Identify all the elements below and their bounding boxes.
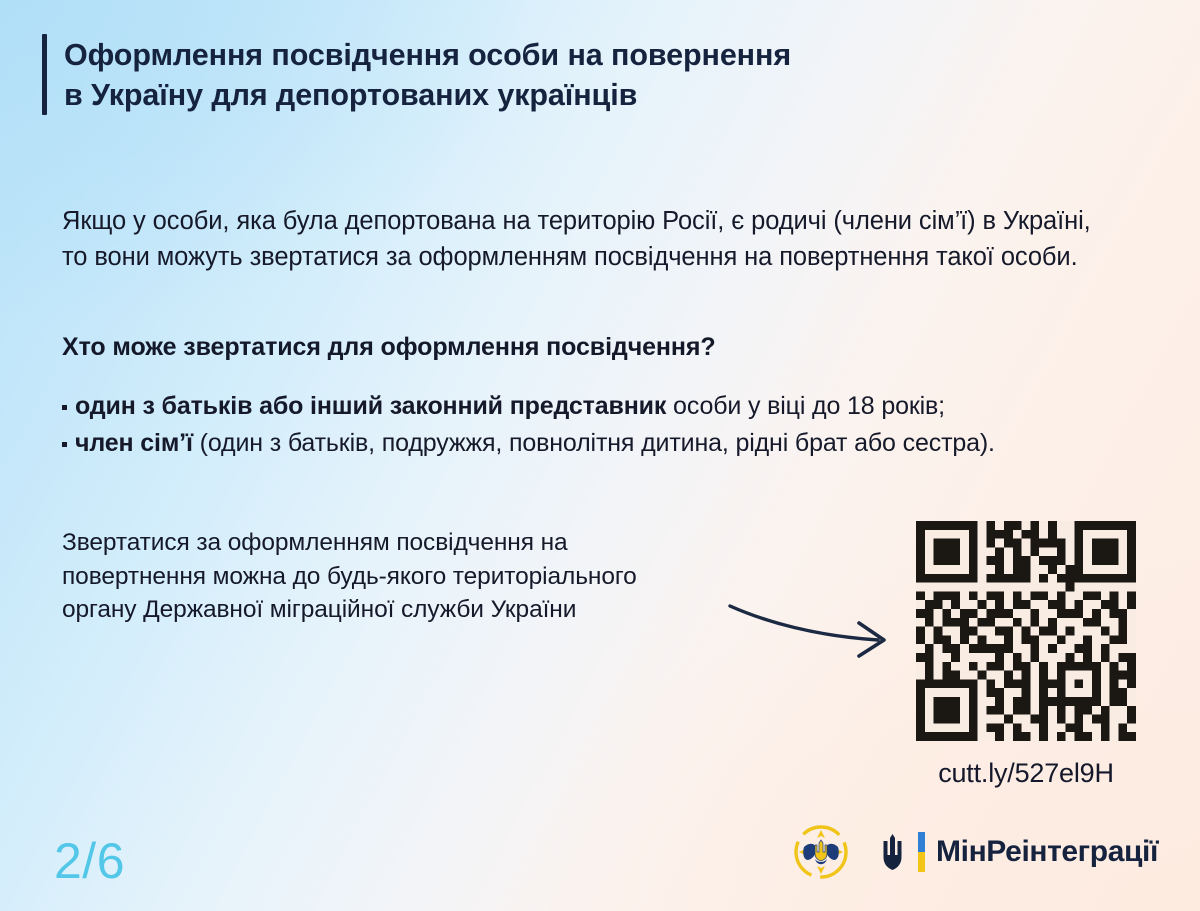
header-accent-bar bbox=[42, 34, 47, 115]
ministry-name: МінРеінтеграції bbox=[936, 835, 1158, 869]
eligibility-list: один з батьків або інший законний предст… bbox=[62, 389, 1127, 463]
list-item-emphasis: член сім’ї bbox=[75, 429, 193, 457]
closing-paragraph: Звертатися за оформленням посвідчення на… bbox=[62, 526, 762, 627]
page-number: 2/6 bbox=[54, 833, 125, 889]
page-title: Оформлення посвідчення особи на повернен… bbox=[64, 34, 791, 115]
intro-paragraph: Якщо у особи, яка була депортована на те… bbox=[62, 204, 1102, 275]
list-item: один з батьків або інший законний предст… bbox=[62, 389, 1127, 423]
qr-caption-url[interactable]: cutt.ly/527el9H bbox=[916, 757, 1136, 789]
ministry-logo: МінРеінтеграції bbox=[878, 832, 1158, 872]
header: Оформлення посвідчення особи на повернен… bbox=[42, 34, 791, 115]
footer-logos: МінРеінтеграції bbox=[790, 821, 1158, 883]
qr-block[interactable]: cutt.ly/527el9H bbox=[916, 521, 1136, 789]
list-item-text: (один з батьків, подружжя, повнолітня ди… bbox=[193, 429, 995, 457]
curved-arrow-right-icon bbox=[726, 592, 906, 662]
question-heading: Хто може звертатися для оформлення посві… bbox=[62, 331, 1102, 364]
ukraine-reintegration-emblem-icon bbox=[790, 821, 852, 883]
list-item-emphasis: один з батьків або інший законний предст… bbox=[75, 392, 666, 420]
ukraine-flag-bar-icon bbox=[918, 832, 925, 872]
ukraine-trident-icon bbox=[878, 833, 907, 871]
list-item: член сім’ї (один з батьків, подружжя, по… bbox=[62, 426, 1127, 460]
list-item-text: особи у віці до 18 років; bbox=[666, 392, 945, 420]
qr-code-icon[interactable] bbox=[916, 521, 1136, 741]
infographic-slide: Оформлення посвідчення особи на повернен… bbox=[0, 0, 1200, 911]
